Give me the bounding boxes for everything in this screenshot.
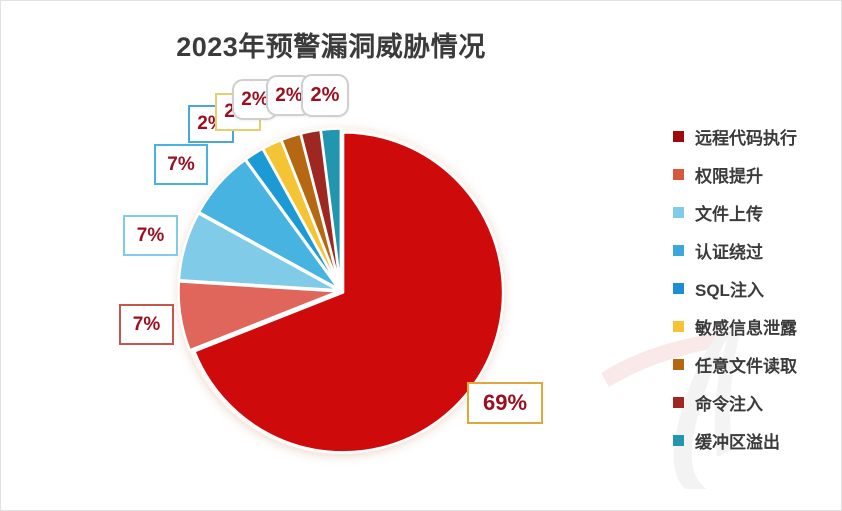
- pie-value-label: 7%: [119, 304, 174, 345]
- legend-swatch-icon: [673, 207, 684, 218]
- legend-swatch-icon: [673, 245, 684, 256]
- legend-item[interactable]: SQL注入: [673, 269, 833, 307]
- legend-item[interactable]: 认证绕过: [673, 231, 833, 269]
- legend-item[interactable]: 权限提升: [673, 155, 833, 193]
- legend: 远程代码执行权限提升文件上传认证绕过SQL注入敏感信息泄露任意文件读取命令注入缓…: [673, 117, 833, 459]
- legend-item-label: 权限提升: [695, 162, 763, 187]
- legend-item-label: 缓冲区溢出: [695, 428, 780, 453]
- legend-swatch-icon: [673, 435, 684, 446]
- pie-value-label: 7%: [154, 144, 208, 185]
- legend-swatch-icon: [673, 321, 684, 332]
- legend-item-label: 敏感信息泄露: [695, 314, 797, 339]
- legend-swatch-icon: [673, 359, 684, 370]
- legend-swatch-icon: [673, 283, 684, 294]
- legend-item-label: 认证绕过: [695, 238, 763, 263]
- legend-swatch-icon: [673, 131, 684, 142]
- pie-value-label: 69%: [467, 382, 543, 424]
- pie-svg: [176, 126, 506, 456]
- legend-item-label: 文件上传: [695, 200, 763, 225]
- legend-item[interactable]: 远程代码执行: [673, 117, 833, 155]
- legend-item-label: 任意文件读取: [695, 352, 797, 377]
- legend-item-label: SQL注入: [695, 276, 764, 301]
- legend-item-label: 命令注入: [695, 390, 763, 415]
- pie-chart: [176, 126, 506, 456]
- legend-item[interactable]: 敏感信息泄露: [673, 307, 833, 345]
- legend-item[interactable]: 缓冲区溢出: [673, 421, 833, 459]
- pie-value-label: 7%: [123, 215, 178, 256]
- legend-item[interactable]: 文件上传: [673, 193, 833, 231]
- legend-swatch-icon: [673, 397, 684, 408]
- page-title: 2023年预警漏洞威胁情况: [1, 25, 661, 64]
- legend-item[interactable]: 任意文件读取: [673, 345, 833, 383]
- legend-item-label: 远程代码执行: [695, 124, 797, 149]
- legend-item[interactable]: 命令注入: [673, 383, 833, 421]
- chart-canvas: 2023年预警漏洞威胁情况 69%7%7%7%2%2%2%2%2% 远程代码执行…: [0, 0, 842, 511]
- pie-value-label: 2%: [301, 74, 349, 117]
- legend-swatch-icon: [673, 169, 684, 180]
